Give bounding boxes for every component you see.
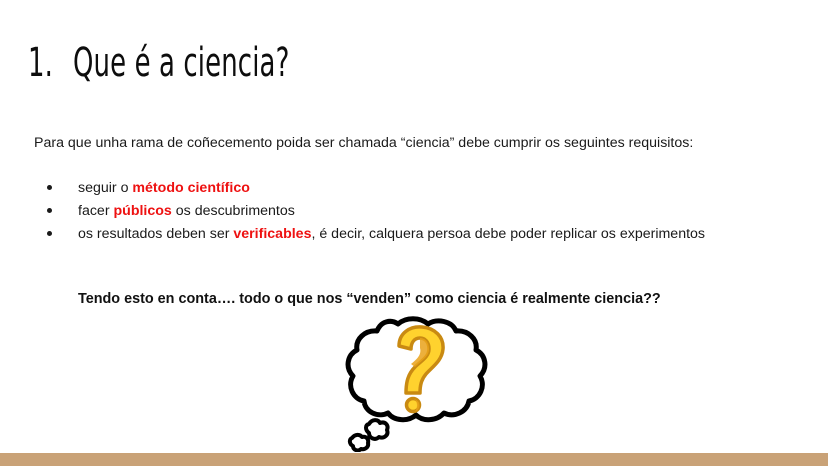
bullet-pre-text: facer bbox=[78, 203, 113, 219]
list-item: facer públicos os descubrimentos bbox=[40, 200, 792, 222]
thought-bubble-graphic bbox=[336, 316, 496, 452]
bullet-highlight-text: método científico bbox=[132, 180, 249, 196]
bullet-dot-icon bbox=[47, 208, 52, 213]
title-number: 1. bbox=[28, 40, 53, 86]
bullet-post-text: os descubrimentos bbox=[172, 203, 295, 219]
page-title: 1. Que é a ciencia? bbox=[28, 40, 373, 86]
intro-paragraph: Para que unha rama de coñecemento poida … bbox=[34, 132, 792, 154]
bullet-post-text: , é decir, calquera persoa debe poder re… bbox=[311, 226, 705, 242]
bottom-accent-bar bbox=[0, 453, 828, 466]
bullet-dot-icon bbox=[47, 185, 52, 190]
closing-question: Tendo esto en conta…. todo o que nos “ve… bbox=[78, 288, 661, 310]
slide-canvas: 1. Que é a ciencia? Para que unha rama d… bbox=[0, 0, 828, 466]
thought-bubble-tail bbox=[350, 420, 388, 450]
title-text: Que é a ciencia? bbox=[73, 40, 289, 86]
bullet-highlight-text: verificables bbox=[233, 226, 311, 242]
bullet-dot-icon bbox=[47, 231, 52, 236]
list-item: seguir o método científico bbox=[40, 177, 792, 199]
bullet-pre-text: os resultados deben ser bbox=[78, 226, 233, 242]
bullet-highlight-text: públicos bbox=[113, 203, 171, 219]
requirements-list: seguir o método científico facer público… bbox=[40, 177, 792, 246]
list-item: os resultados deben ser verificables, é … bbox=[40, 223, 792, 245]
bullet-pre-text: seguir o bbox=[78, 180, 132, 196]
